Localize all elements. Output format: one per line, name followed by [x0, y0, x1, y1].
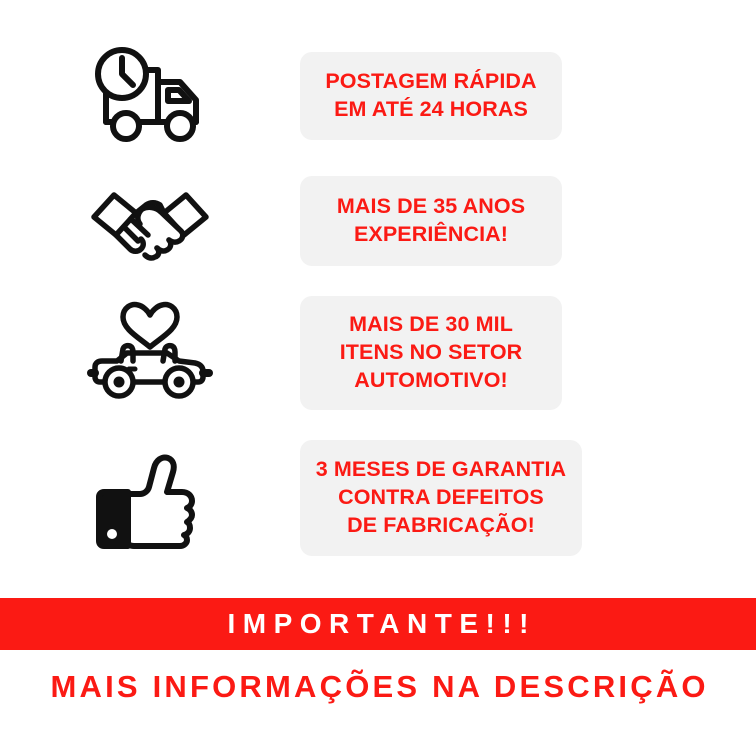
feature-text-line: MAIS DE 35 ANOS	[337, 193, 525, 221]
thumbs-up-icon	[0, 446, 300, 550]
feature-text-line: MAIS DE 30 MIL	[349, 311, 513, 339]
feature-text-line: DE FABRICAÇÃO!	[347, 512, 535, 540]
feature-text-cell: 3 MESES DE GARANTIA CONTRA DEFEITOS DE F…	[300, 440, 582, 556]
feature-text-line: 3 MESES DE GARANTIA	[316, 456, 566, 484]
delivery-truck-clock-icon	[0, 44, 300, 148]
feature-row: 3 MESES DE GARANTIA CONTRA DEFEITOS DE F…	[0, 422, 756, 574]
feature-text-line: CONTRA DEFEITOS	[338, 484, 544, 512]
feature-text-line: EXPERIÊNCIA!	[354, 221, 508, 249]
important-banner: IMPORTANTE!!!	[0, 598, 756, 650]
feature-row: MAIS DE 30 MIL ITENS NO SETOR AUTOMOTIVO…	[0, 278, 756, 428]
feature-row: MAIS DE 35 ANOS EXPERIÊNCIA!	[0, 150, 756, 292]
feature-text-panel: MAIS DE 30 MIL ITENS NO SETOR AUTOMOTIVO…	[300, 296, 562, 410]
promo-banner-page: POSTAGEM RÁPIDA EM ATÉ 24 HORAS	[0, 0, 756, 756]
feature-row: POSTAGEM RÁPIDA EM ATÉ 24 HORAS	[0, 22, 756, 170]
handshake-icon	[0, 173, 300, 269]
feature-text-line: AUTOMOTIVO!	[354, 367, 508, 395]
feature-text-panel: MAIS DE 35 ANOS EXPERIÊNCIA!	[300, 176, 562, 266]
bottom-banner-area: IMPORTANTE!!! MAIS INFORMAÇÕES NA DESCRI…	[0, 590, 756, 756]
car-heart-icon	[0, 299, 300, 407]
feature-text-cell: POSTAGEM RÁPIDA EM ATÉ 24 HORAS	[300, 52, 562, 140]
feature-text-cell: MAIS DE 35 ANOS EXPERIÊNCIA!	[300, 176, 562, 266]
feature-text-line: EM ATÉ 24 HORAS	[334, 96, 528, 124]
feature-text-line: ITENS NO SETOR	[340, 339, 523, 367]
important-banner-text: IMPORTANTE!!!	[220, 610, 536, 638]
feature-text-line: POSTAGEM RÁPIDA	[325, 68, 536, 96]
feature-text-panel: POSTAGEM RÁPIDA EM ATÉ 24 HORAS	[300, 52, 562, 140]
feature-list: POSTAGEM RÁPIDA EM ATÉ 24 HORAS	[0, 0, 756, 590]
feature-text-panel: 3 MESES DE GARANTIA CONTRA DEFEITOS DE F…	[300, 440, 582, 556]
feature-text-cell: MAIS DE 30 MIL ITENS NO SETOR AUTOMOTIVO…	[300, 296, 562, 410]
description-callout-text: MAIS INFORMAÇÕES NA DESCRIÇÃO	[47, 671, 708, 702]
description-callout: MAIS INFORMAÇÕES NA DESCRIÇÃO	[0, 662, 756, 710]
